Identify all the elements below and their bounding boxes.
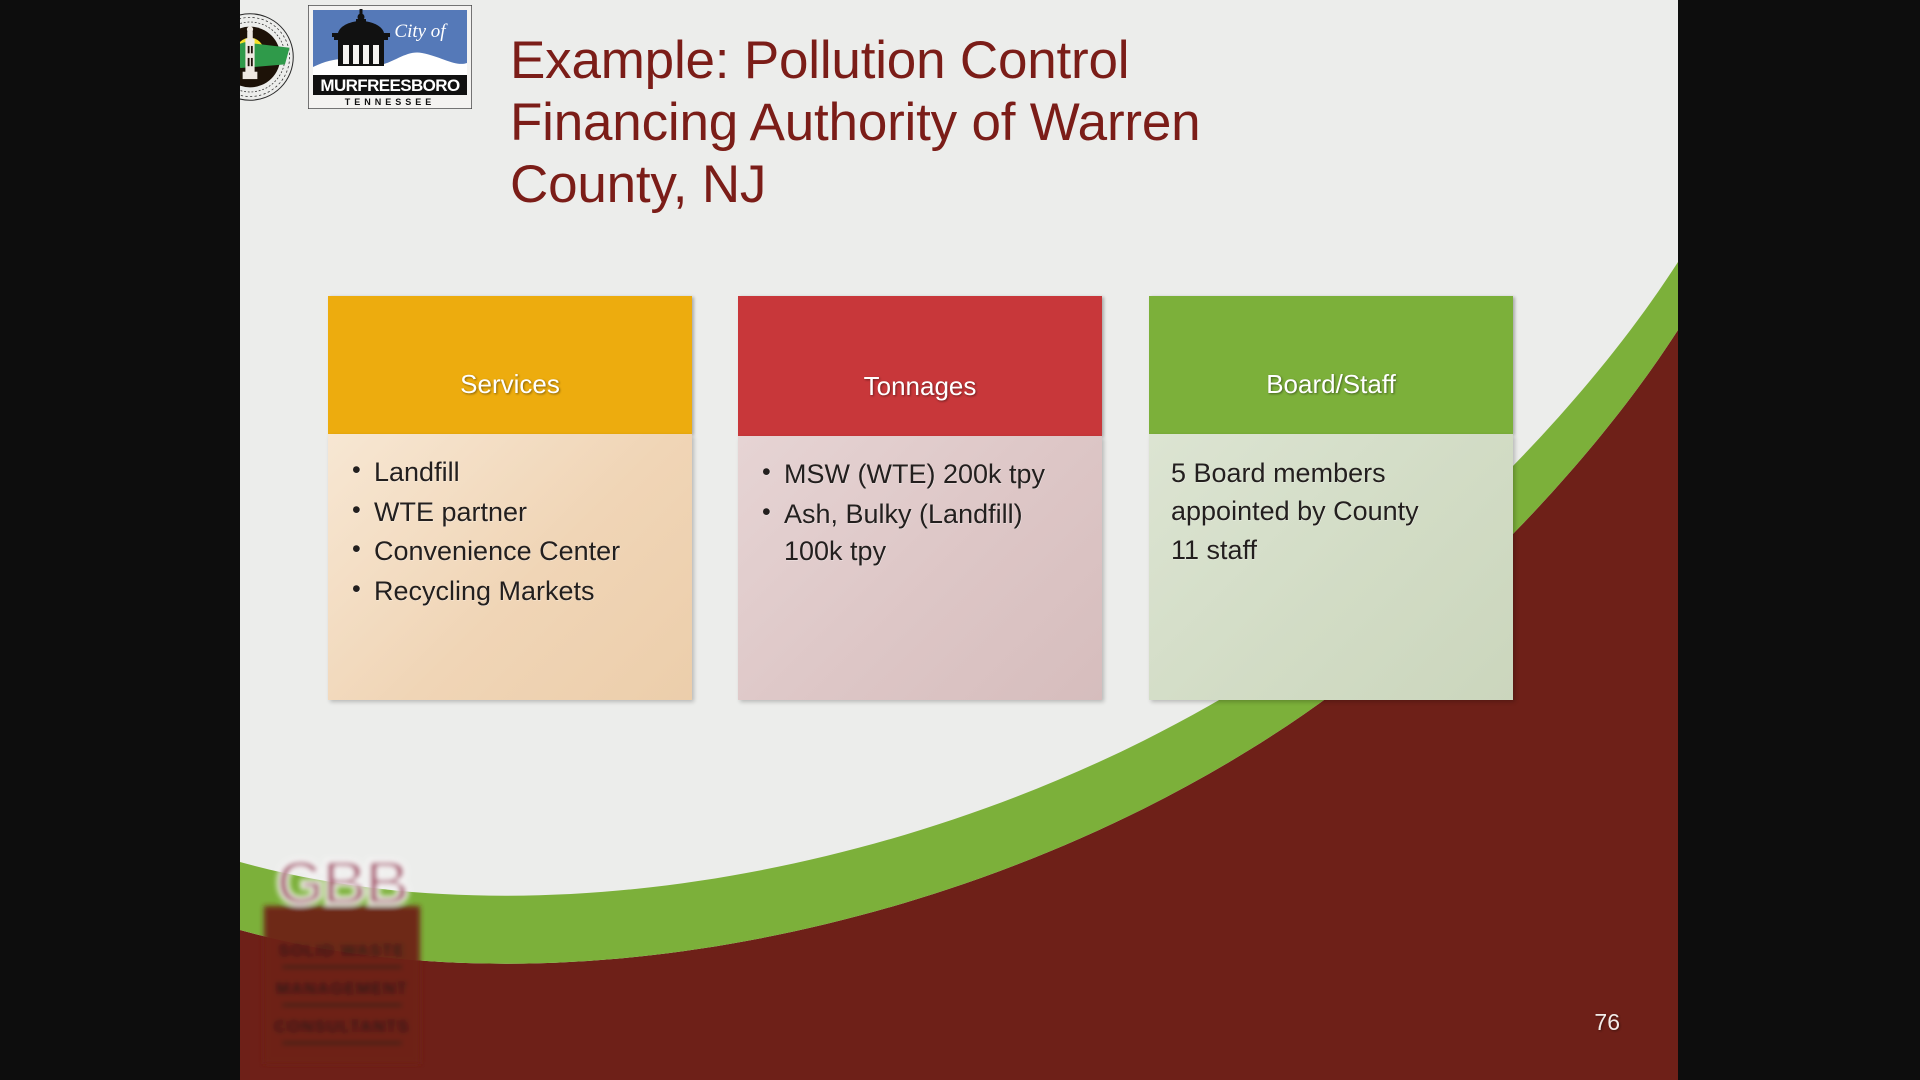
gbb-logo-icon: GBB SOLID WASTE MANAGEMENT CONSULTANTS (258, 846, 426, 1068)
list-item: Convenience Center (350, 533, 676, 571)
services-list: Landfill WTE partner Convenience Center … (350, 454, 676, 610)
board-staff-list: 5 Board members appointed by County 11 s… (1171, 454, 1497, 569)
list-item: Recycling Markets (350, 573, 676, 611)
box-header-tonnages: Tonnages (738, 296, 1102, 436)
murfreesboro-city-seal-icon (240, 9, 296, 105)
list-item: 11 staff (1171, 531, 1497, 569)
box-body-tonnages: MSW (WTE) 200k tpy Ash, Bulky (Landfill)… (738, 436, 1102, 700)
list-item: WTE partner (350, 494, 676, 532)
svg-text:MANAGEMENT: MANAGEMENT (276, 980, 408, 998)
svg-text:MURFREESBORO: MURFREESBORO (320, 76, 460, 95)
box-header-board-staff: Board/Staff (1149, 296, 1513, 434)
content-box-services: Services Landfill WTE partner Convenienc… (328, 296, 692, 700)
slide-title: Example: Pollution Control Financing Aut… (510, 30, 1330, 216)
header-logos: City of MURFREESBORO TENNESSEE (240, 5, 484, 109)
page-number: 76 (1594, 1009, 1620, 1036)
tonnages-list: MSW (WTE) 200k tpy Ash, Bulky (Landfill)… (760, 456, 1086, 571)
content-boxes: Services Landfill WTE partner Convenienc… (328, 296, 1578, 700)
svg-text:SOLID WASTE: SOLID WASTE (279, 942, 406, 960)
svg-text:TENNESSEE: TENNESSEE (345, 97, 436, 107)
svg-text:GBB: GBB (276, 849, 408, 918)
list-item: 5 Board members appointed by County (1171, 454, 1497, 531)
box-header-services: Services (328, 296, 692, 434)
screen-root: City of MURFREESBORO TENNESSEE Example: … (0, 0, 1920, 1080)
box-body-board-staff: 5 Board members appointed by County 11 s… (1149, 434, 1513, 700)
content-box-tonnages: Tonnages MSW (WTE) 200k tpy Ash, Bulky (… (738, 296, 1102, 700)
content-box-board-staff: Board/Staff 5 Board members appointed by… (1149, 296, 1513, 700)
city-of-murfreesboro-wordmark-icon: City of MURFREESBORO TENNESSEE (308, 5, 472, 109)
list-item: MSW (WTE) 200k tpy (760, 456, 1086, 494)
list-item: Landfill (350, 454, 676, 492)
svg-text:City of: City of (394, 21, 448, 42)
list-item: Ash, Bulky (Landfill) 100k tpy (760, 496, 1086, 571)
presentation-slide: City of MURFREESBORO TENNESSEE Example: … (240, 0, 1678, 1080)
box-body-services: Landfill WTE partner Convenience Center … (328, 434, 692, 700)
svg-text:CONSULTANTS: CONSULTANTS (274, 1018, 409, 1036)
